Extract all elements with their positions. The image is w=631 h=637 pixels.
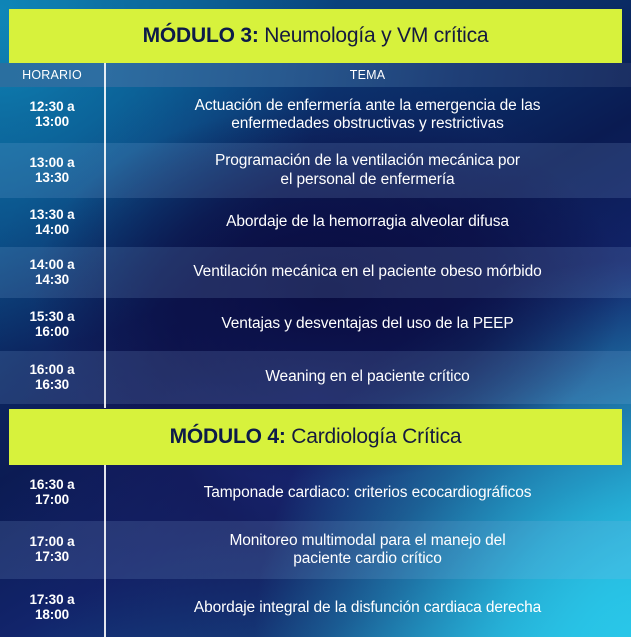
module-banner-3: MÓDULO 3: Neumología y VM crítica [9,9,622,63]
table-row: 17:30 a 18:00 Abordaje integral de la di… [0,579,631,637]
module-banner-4: MÓDULO 4: Cardiología Crítica [9,409,622,465]
row-time-text: 13:00 a 13:30 [29,156,74,185]
row-time-cell: 12:30 a 13:00 [0,87,104,143]
row-time-text: 13:30 a 14:00 [29,208,74,237]
row-topic-text: Ventilación mecánica en el paciente obes… [193,263,541,281]
row-topic-cell: Monitoreo multimodal para el manejo del … [104,521,631,579]
row-topic-text: Actuación de enfermería ante la emergenc… [195,97,541,134]
schedule-poster: MÓDULO 3: Neumología y VM crítica HORARI… [0,0,631,637]
table-row: 13:00 a 13:30 Programación de la ventila… [0,143,631,198]
module-4-label: MÓDULO 4: [170,425,286,449]
table-row: 13:30 a 14:00 Abordaje de la hemorragia … [0,198,631,247]
row-topic-text: Monitoreo multimodal para el manejo del … [229,532,505,569]
table-row: 15:30 a 16:00 Ventajas y desventajas del… [0,298,631,351]
row-topic-cell: Ventilación mecánica en el paciente obes… [104,247,631,298]
row-topic-cell: Weaning en el paciente crítico [104,351,631,404]
row-time-cell: 13:00 a 13:30 [0,143,104,198]
row-topic-text: Programación de la ventilación mecánica … [215,152,520,189]
row-time-cell: 16:00 a 16:30 [0,351,104,404]
row-time-cell: 15:30 a 16:00 [0,298,104,351]
column-header-tema: TEMA [104,68,631,82]
row-topic-text: Weaning en el paciente crítico [265,368,469,386]
row-time-cell: 16:30 a 17:00 [0,465,104,521]
row-time-text: 17:00 a 17:30 [29,535,74,564]
column-header-horario: HORARIO [0,68,104,82]
table-row: 16:30 a 17:00 Tamponade cardiaco: criter… [0,465,631,521]
row-topic-text: Abordaje integral de la disfunción cardi… [194,599,541,617]
row-time-text: 16:30 a 17:00 [29,478,74,507]
column-divider [104,465,106,637]
row-topic-cell: Abordaje de la hemorragia alveolar difus… [104,198,631,247]
row-time-text: 14:00 a 14:30 [29,258,74,287]
module-3-title: Neumología y VM crítica [259,24,489,48]
row-topic-cell: Tamponade cardiaco: criterios ecocardiog… [104,465,631,521]
row-time-text: 15:30 a 16:00 [29,310,74,339]
column-divider [104,63,106,408]
row-time-text: 17:30 a 18:00 [29,593,74,622]
row-time-text: 16:00 a 16:30 [29,363,74,392]
row-time-cell: 13:30 a 14:00 [0,198,104,247]
table-row: 17:00 a 17:30 Monitoreo multimodal para … [0,521,631,579]
column-header-row: HORARIO TEMA [0,63,631,87]
row-topic-cell: Abordaje integral de la disfunción cardi… [104,579,631,637]
row-topic-cell: Programación de la ventilación mecánica … [104,143,631,198]
module-4-title: Cardiología Crítica [286,425,462,449]
table-row: 12:30 a 13:00 Actuación de enfermería an… [0,87,631,143]
row-topic-cell: Actuación de enfermería ante la emergenc… [104,87,631,143]
row-topic-cell: Ventajas y desventajas del uso de la PEE… [104,298,631,351]
row-time-text: 12:30 a 13:00 [29,100,74,129]
module-3-label: MÓDULO 3: [143,24,259,48]
row-time-cell: 17:30 a 18:00 [0,579,104,637]
row-topic-text: Ventajas y desventajas del uso de la PEE… [221,315,513,333]
row-time-cell: 14:00 a 14:30 [0,247,104,298]
table-row: 16:00 a 16:30 Weaning en el paciente crí… [0,351,631,404]
row-topic-text: Abordaje de la hemorragia alveolar difus… [226,213,509,231]
table-row: 14:00 a 14:30 Ventilación mecánica en el… [0,247,631,298]
row-topic-text: Tamponade cardiaco: criterios ecocardiog… [204,484,532,502]
row-time-cell: 17:00 a 17:30 [0,521,104,579]
